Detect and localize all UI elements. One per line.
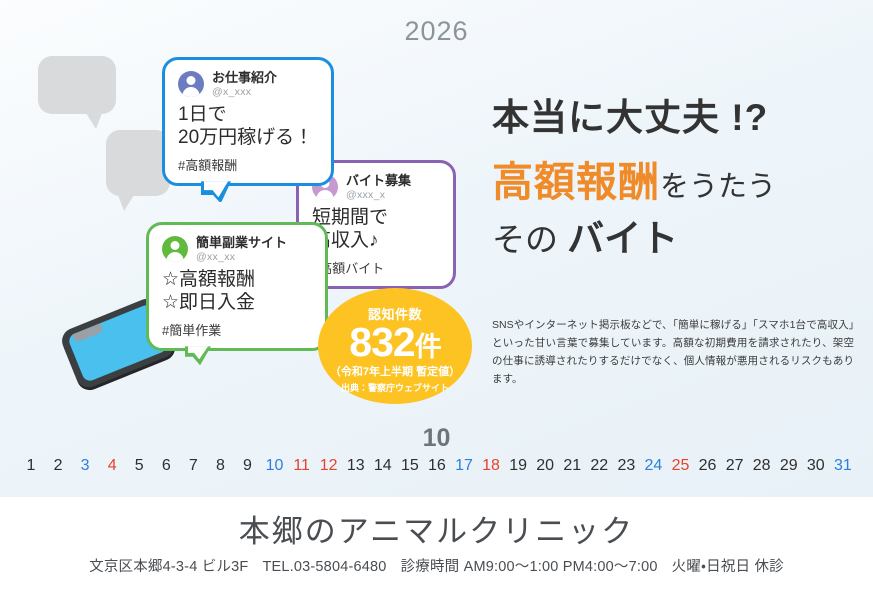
account-handle: @x_xxx <box>212 86 277 98</box>
statistic-unit: 件 <box>415 332 441 362</box>
clinic-closed-days: 火曜・日祝日 休診 <box>672 559 784 575</box>
calendar-day-13: 13 <box>347 457 365 475</box>
statistic-badge: 認知件数 832件 （令和7年上半期 暫定値） 出典：警察庁ウェブサイト <box>318 288 472 404</box>
headline-line-2-rest: をうたう <box>660 171 776 203</box>
calendar-day-22: 22 <box>590 457 608 475</box>
clinic-address: 文京区本郷4-3-4 ビル3F <box>89 559 248 575</box>
calendar-day-6: 6 <box>157 457 175 475</box>
calendar-day-20: 20 <box>536 457 554 475</box>
account-name: 簡単副業サイト <box>196 236 287 251</box>
account-name: お仕事紹介 <box>212 71 277 86</box>
user-avatar-icon <box>178 71 204 97</box>
headline-line-3-strong: バイト <box>567 218 678 259</box>
calendar-day-strip: 1234567891011121314151617181920212223242… <box>22 457 852 475</box>
calendar-day-24: 24 <box>644 457 662 475</box>
calendar-day-8: 8 <box>211 457 229 475</box>
calendar-day-11: 11 <box>293 457 311 475</box>
account-handle: @xxx_x <box>346 189 411 201</box>
calendar-day-1: 1 <box>22 457 40 475</box>
tweet-card-green: 簡単副業サイト @xx_xx ☆高額報酬 ☆即日入金 #簡単作業 <box>146 222 328 351</box>
calendar-day-17: 17 <box>455 457 473 475</box>
calendar-day-9: 9 <box>239 457 257 475</box>
tweet-message-line-1: ☆高額報酬 <box>162 268 312 291</box>
tweet-message-line-2: 高収入♪ <box>312 229 440 252</box>
headline-line-1: 本当に大丈夫 !? <box>492 98 864 139</box>
statistic-source: 出典：警察庁ウェブサイト <box>318 381 472 394</box>
headline-highlight: 高額報酬 <box>492 159 660 205</box>
calendar-day-7: 7 <box>184 457 202 475</box>
headline-block: 本当に大丈夫 !? 高額報酬をうたう その バイト <box>492 98 864 260</box>
tweet-message-line-2: ☆即日入金 <box>162 291 312 314</box>
calendar-day-25: 25 <box>672 457 690 475</box>
calendar-day-5: 5 <box>130 457 148 475</box>
tweet-header: 簡単副業サイト @xx_xx <box>162 236 312 263</box>
calendar-day-29: 29 <box>780 457 798 475</box>
statistic-note: （令和7年上半期 暫定値） <box>318 363 472 379</box>
decorative-bubble-1 <box>38 56 116 114</box>
footer-panel: 本郷のアニマルクリニック 文京区本郷4-3-4 ビル3FTEL.03-5804-… <box>0 497 873 595</box>
clinic-name: 本郷のアニマルクリニック <box>0 506 873 551</box>
calendar-day-27: 27 <box>726 457 744 475</box>
calendar-day-16: 16 <box>428 457 446 475</box>
headline-line-2: 高額報酬をうたう <box>492 159 864 206</box>
clinic-info: 文京区本郷4-3-4 ビル3FTEL.03-5804-6480診療時間 AM9:… <box>0 555 873 576</box>
headline-line-3-pre: その <box>492 221 558 258</box>
calendar-day-12: 12 <box>320 457 338 475</box>
calendar-day-14: 14 <box>374 457 392 475</box>
statistic-number: 832 <box>349 319 414 365</box>
tweet-message-line-1: 1日で <box>178 103 318 126</box>
calendar-day-28: 28 <box>753 457 771 475</box>
calendar-day-26: 26 <box>699 457 717 475</box>
tweet-hashtag: #簡単作業 <box>162 320 312 339</box>
calendar-day-23: 23 <box>617 457 635 475</box>
body-paragraph: SNSやインターネット掲示板などで、「簡単に稼げる」「スマホ1台で高収入」といっ… <box>492 317 854 388</box>
statistic-value: 832件 <box>318 321 472 364</box>
calendar-day-30: 30 <box>807 457 825 475</box>
decorative-bubble-2 <box>106 130 170 196</box>
calendar-day-10: 10 <box>266 457 284 475</box>
calendar-day-2: 2 <box>49 457 67 475</box>
account-handle: @xx_xx <box>196 251 287 263</box>
clinic-hours: 診療時間 AM9:00〜1:00 PM4:00〜7:00 <box>401 559 658 575</box>
calendar-day-15: 15 <box>401 457 419 475</box>
tweet-hashtag: #高額報酬 <box>178 155 318 174</box>
month-number: 10 <box>0 424 873 453</box>
tweet-card-blue: お仕事紹介 @x_xxx 1日で 20万円稼げる！ #高額報酬 <box>162 57 334 186</box>
tweet-message-line-1: 短期間で <box>312 206 440 229</box>
clinic-tel: TEL.03-5804-6480 <box>262 559 386 575</box>
tweet-message-line-2: 20万円稼げる！ <box>178 126 318 149</box>
calendar-day-3: 3 <box>76 457 94 475</box>
user-avatar-icon <box>162 236 188 262</box>
calendar-day-19: 19 <box>509 457 527 475</box>
year-label: 2026 <box>0 16 873 47</box>
calendar-day-4: 4 <box>103 457 121 475</box>
calendar-day-21: 21 <box>563 457 581 475</box>
headline-line-3: その バイト <box>492 218 864 261</box>
account-name: バイト募集 <box>346 174 411 189</box>
calendar-day-31: 31 <box>834 457 852 475</box>
calendar-day-18: 18 <box>482 457 500 475</box>
tweet-header: お仕事紹介 @x_xxx <box>178 71 318 98</box>
calendar-poster: 2026 お仕事紹介 @x_xxx 1日で 20万円稼げる！ #高額報酬 <box>0 0 873 595</box>
tweet-hashtag: #高額バイト <box>312 258 440 277</box>
